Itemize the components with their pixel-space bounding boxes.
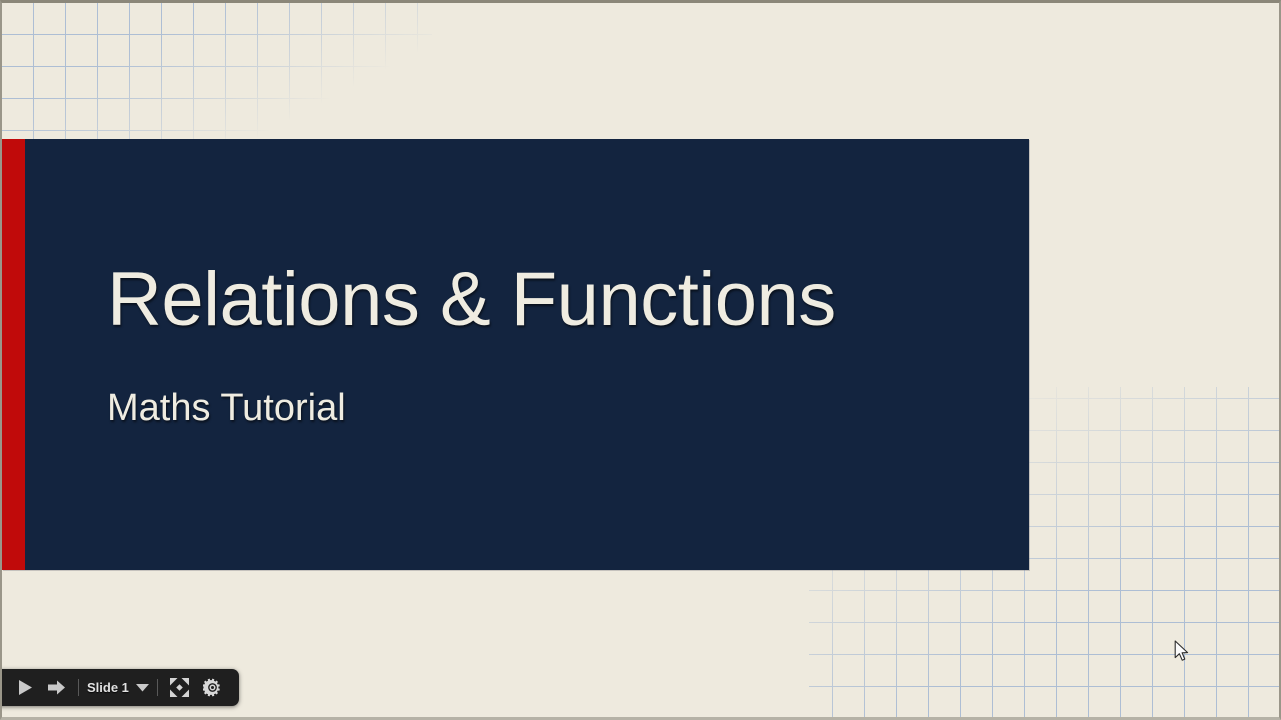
next-slide-button[interactable] bbox=[40, 669, 73, 706]
presentation-control-bar[interactable]: Slide 1 bbox=[0, 669, 239, 706]
gear-icon bbox=[203, 678, 222, 697]
slide-indicator-label: Slide 1 bbox=[87, 680, 129, 695]
slide-subtitle: Maths Tutorial bbox=[107, 386, 346, 430]
presentation-viewport: Relations & Functions Maths Tutorial Sli… bbox=[0, 0, 1281, 720]
play-icon bbox=[17, 679, 33, 696]
next-arrow-icon bbox=[47, 679, 66, 696]
chevron-down-icon bbox=[136, 679, 149, 697]
slide-accent-bar bbox=[2, 139, 25, 570]
slide-title: Relations & Functions bbox=[107, 258, 836, 342]
play-button[interactable] bbox=[10, 669, 40, 706]
decorative-grid-top-left bbox=[2, 3, 432, 153]
toolbar-separator-2 bbox=[157, 679, 158, 696]
slide-indicator-dropdown[interactable]: Slide 1 bbox=[84, 679, 152, 697]
fullscreen-expand-icon bbox=[170, 678, 189, 697]
toolbar-separator-1 bbox=[78, 679, 79, 696]
slide-content-area[interactable]: Relations & Functions Maths Tutorial bbox=[25, 139, 1029, 570]
fullscreen-button[interactable] bbox=[163, 669, 196, 706]
slide-canvas[interactable]: Relations & Functions Maths Tutorial bbox=[2, 139, 1029, 570]
mouse-pointer-icon bbox=[1174, 640, 1192, 664]
settings-button[interactable] bbox=[196, 669, 229, 706]
